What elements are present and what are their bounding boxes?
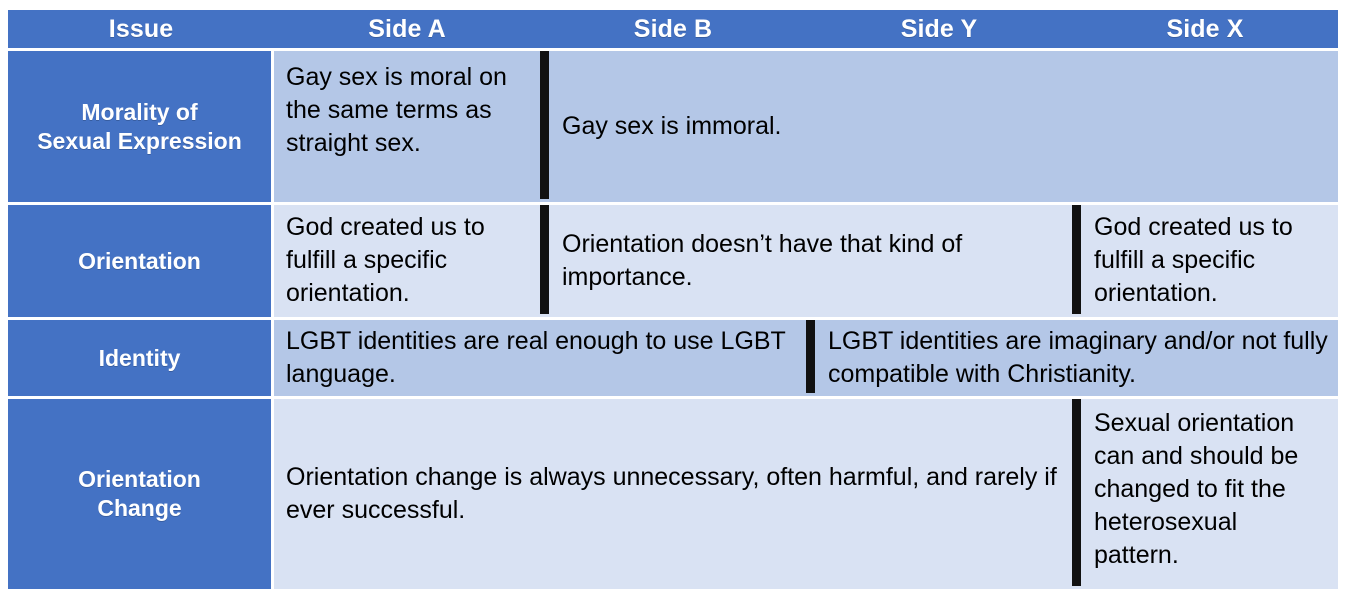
row-label-line-1: Morality of bbox=[81, 99, 197, 125]
table-header: Issue Side A Side B Side Y Side X bbox=[8, 10, 1338, 51]
cell-orientation-side-a: God created us to fulfill a specific ori… bbox=[274, 205, 540, 320]
cell-identity-side-a-b: LGBT identities are real enough to use L… bbox=[274, 320, 806, 399]
table-row: Orientation God created us to fulfill a … bbox=[8, 205, 1338, 320]
cell-identity-side-y-x: LGBT identities are imaginary and/or not… bbox=[806, 320, 1338, 399]
row-label-line-2: Sexual Expression bbox=[37, 128, 242, 154]
comparison-table-container: Issue Side A Side B Side Y Side X Morali… bbox=[8, 10, 1338, 586]
cell-change-side-x: Sexual orientation can and should be cha… bbox=[1072, 399, 1338, 589]
column-header-side-x: Side X bbox=[1072, 10, 1338, 51]
table-row: Morality of Sexual Expression Gay sex is… bbox=[8, 51, 1338, 205]
cell-change-side-a-b-y: Orientation change is always unnecessary… bbox=[274, 399, 1072, 589]
table-body: Morality of Sexual Expression Gay sex is… bbox=[8, 51, 1338, 589]
column-header-issue: Issue bbox=[8, 10, 274, 51]
row-label-morality: Morality of Sexual Expression bbox=[8, 51, 274, 205]
row-label-orientation: Orientation bbox=[8, 205, 274, 320]
table-row: Orientation Change Orientation change is… bbox=[8, 399, 1338, 589]
column-header-side-y: Side Y bbox=[806, 10, 1072, 51]
cell-morality-side-a: Gay sex is moral on the same terms as st… bbox=[274, 51, 540, 205]
row-label-orientation-change: Orientation Change bbox=[8, 399, 274, 589]
issue-comparison-table: Issue Side A Side B Side Y Side X Morali… bbox=[8, 10, 1338, 589]
row-label-identity: Identity bbox=[8, 320, 274, 399]
header-row: Issue Side A Side B Side Y Side X bbox=[8, 10, 1338, 51]
row-label-line-2: Change bbox=[97, 495, 181, 521]
row-label-line-1: Orientation bbox=[78, 466, 201, 492]
column-header-side-b: Side B bbox=[540, 10, 806, 51]
cell-orientation-side-b-y: Orientation doesn’t have that kind of im… bbox=[540, 205, 1072, 320]
table-row: Identity LGBT identities are real enough… bbox=[8, 320, 1338, 399]
cell-orientation-side-x: God created us to fulfill a specific ori… bbox=[1072, 205, 1338, 320]
column-header-side-a: Side A bbox=[274, 10, 540, 51]
cell-morality-side-b-y-x: Gay sex is immoral. bbox=[540, 51, 1338, 205]
